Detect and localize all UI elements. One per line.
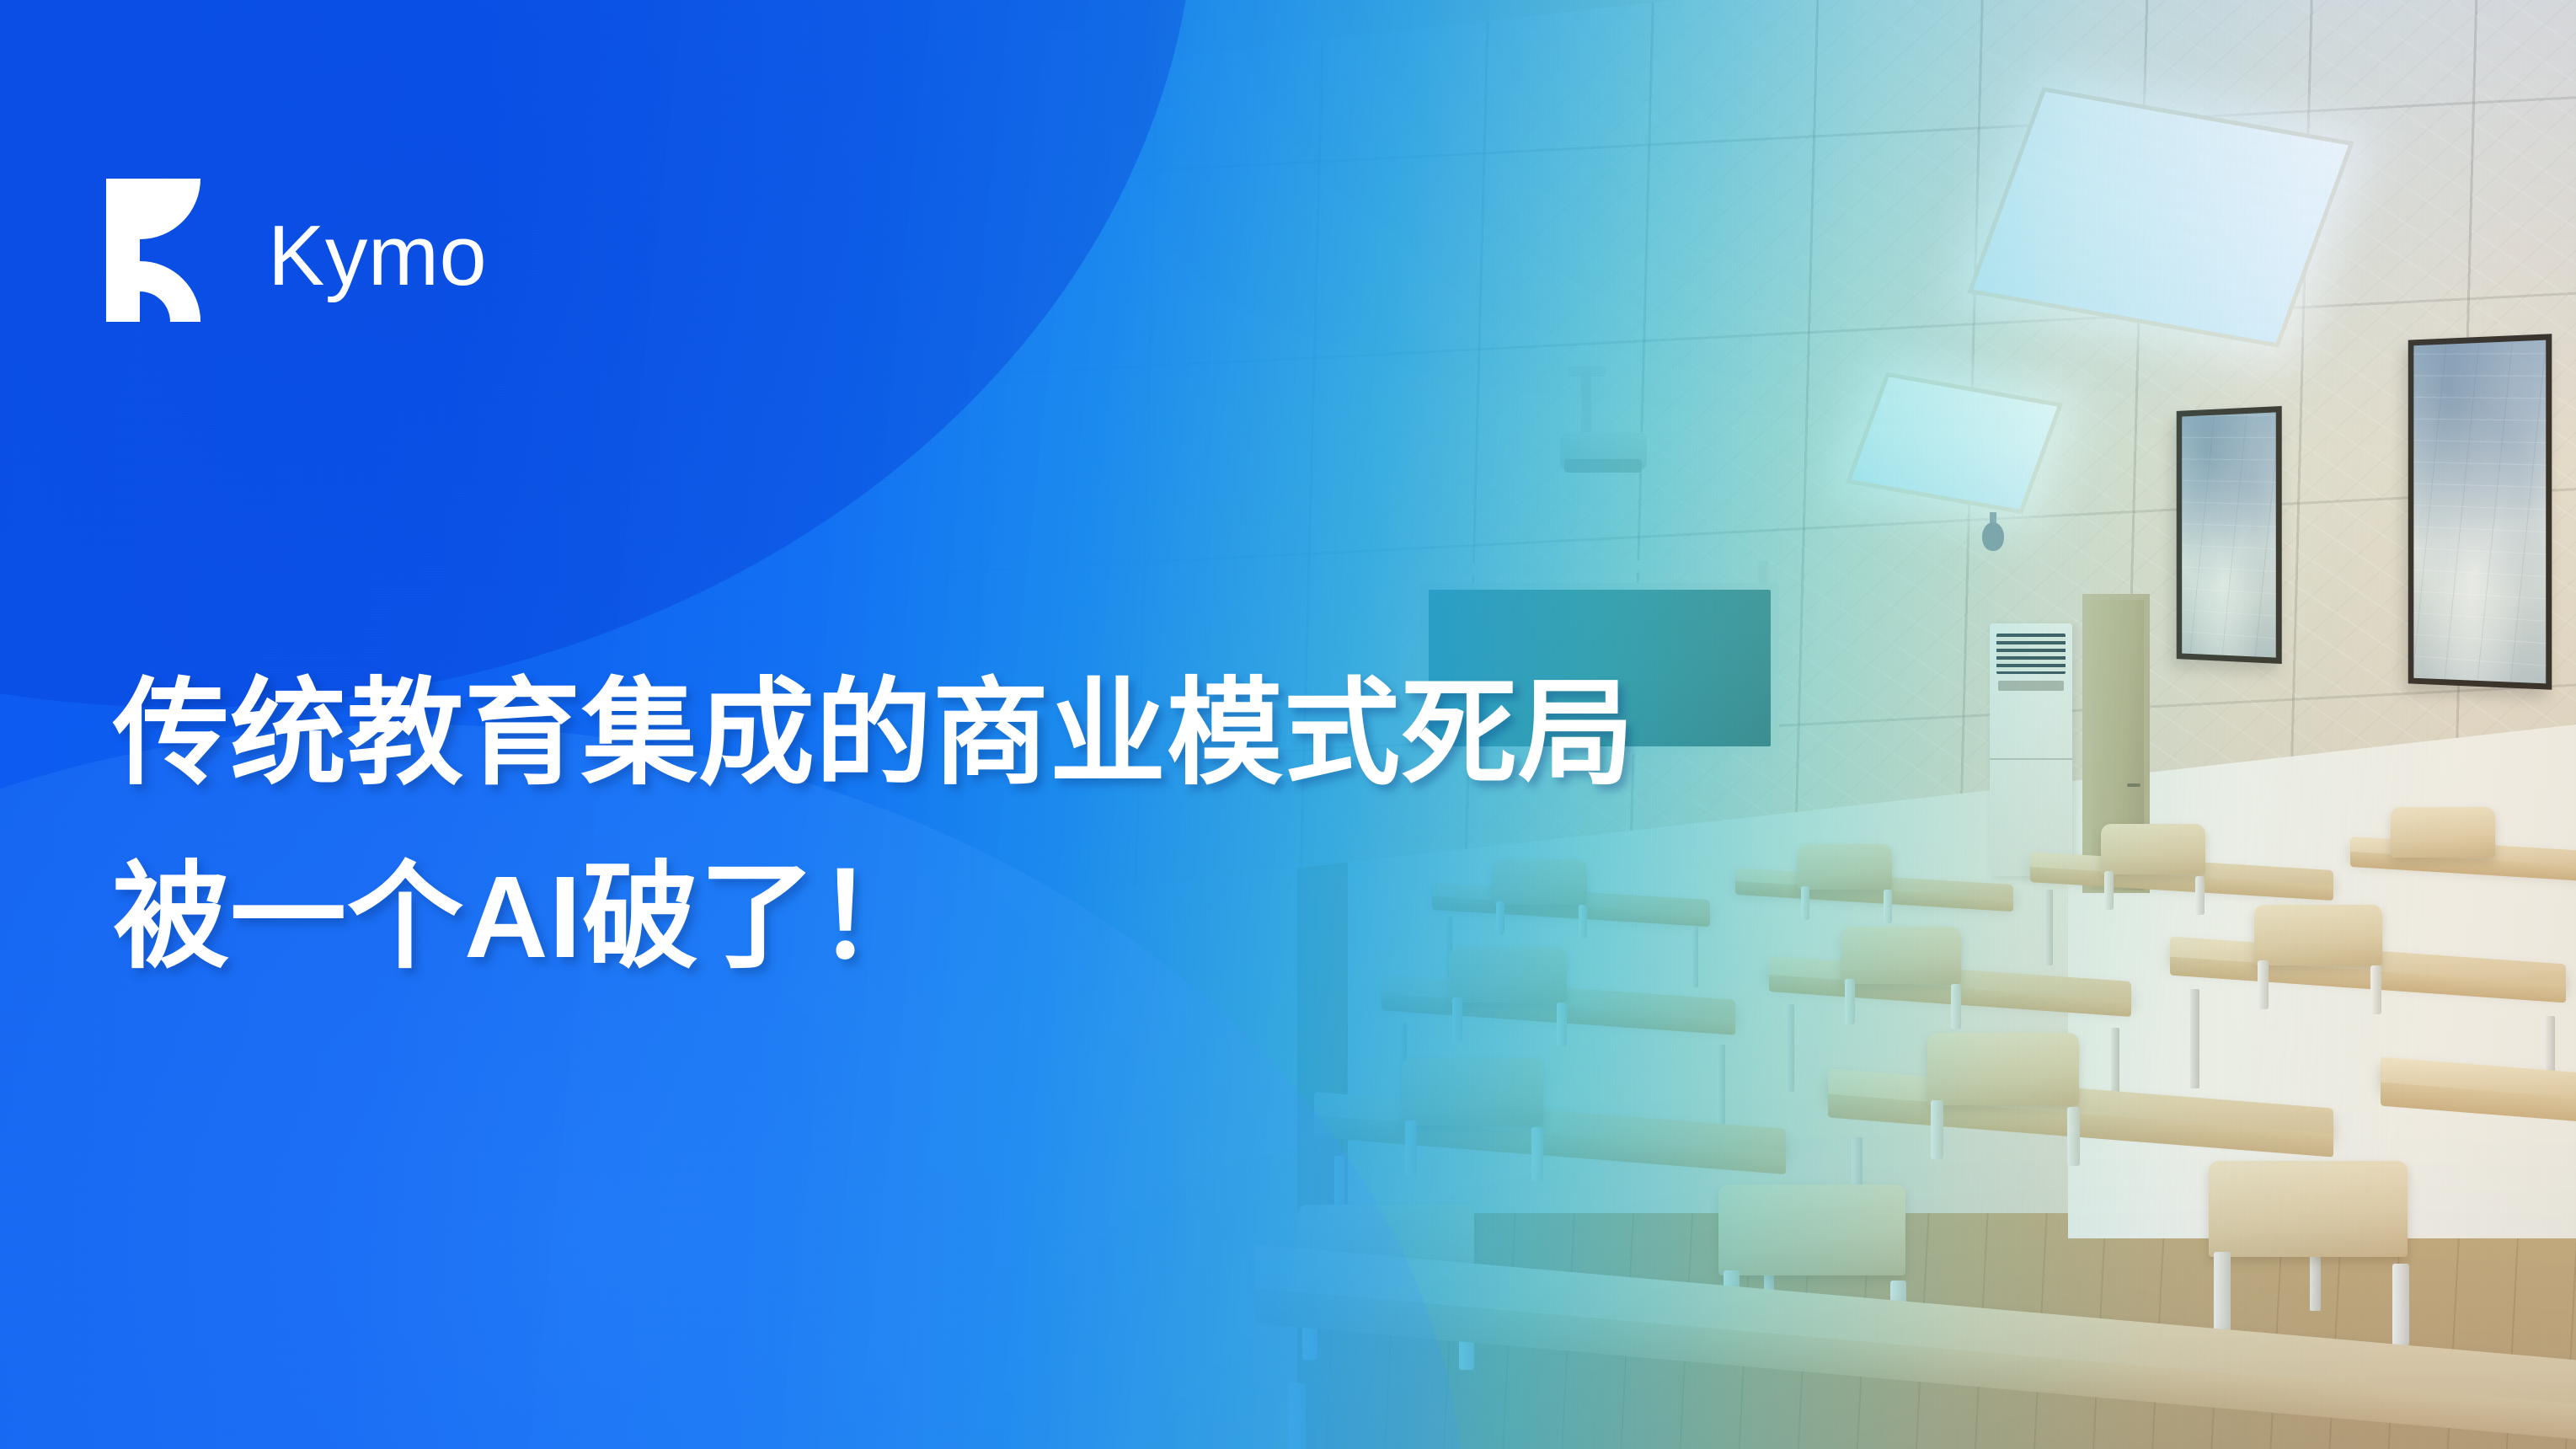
- headline: 传统教育集成的商业模式死局 被一个AI破了！: [113, 642, 1635, 1009]
- headline-line-1: 传统教育集成的商业模式死局: [113, 642, 1635, 826]
- kymo-promo-banner: Kymo 传统教育集成的商业模式死局 被一个AI破了！: [0, 0, 2576, 1449]
- brand-lockup[interactable]: Kymo: [106, 179, 487, 322]
- kymo-k-logo-icon: [106, 179, 231, 322]
- brand-name: Kymo: [268, 214, 487, 299]
- banner-content: Kymo 传统教育集成的商业模式死局 被一个AI破了！: [0, 0, 2576, 1449]
- headline-line-2: 被一个AI破了！: [113, 826, 1635, 1009]
